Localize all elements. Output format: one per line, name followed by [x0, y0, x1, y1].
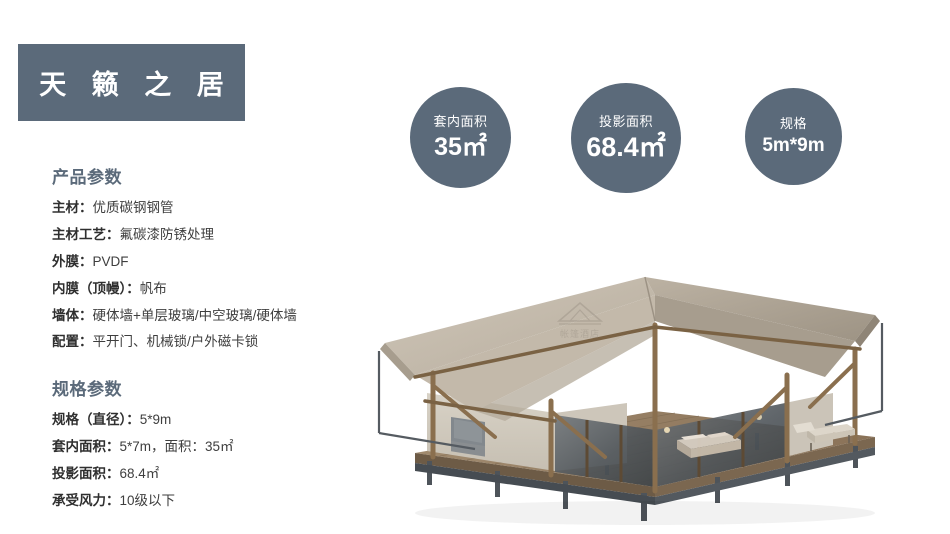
page-title: 天 籁 之 居 — [30, 63, 233, 102]
spec-value: 氟碳漆防锈处理 — [120, 227, 215, 242]
tent-house-illustration — [355, 225, 935, 525]
spec-panel: 产品参数 主材：优质碳钢钢管 主材工艺：氟碳漆防锈处理 外膜：PVDF 内膜（顶… — [52, 163, 382, 520]
badge-label: 投影面积 — [599, 115, 653, 129]
badge-projected-area: 投影面积 68.4㎡ — [571, 83, 681, 193]
spec-label: 主材： — [52, 200, 93, 215]
spec-row: 套内面积：5*7m，面积：35㎡ — [52, 439, 382, 456]
badge-value: 5m*9m — [762, 136, 824, 156]
spec-row: 外膜：PVDF — [52, 254, 382, 271]
section-heading-specification: 规格参数 — [52, 375, 382, 400]
badge-label: 规格 — [780, 117, 807, 131]
spec-row: 规格（直径）：5*9m — [52, 412, 382, 429]
spec-value: 68.4㎡ — [120, 466, 160, 481]
spec-label: 内膜（顶幔）： — [52, 281, 140, 296]
badge-value: 68.4㎡ — [586, 133, 666, 161]
spec-value: 5*9m — [140, 412, 172, 427]
spec-label: 投影面积： — [52, 466, 120, 481]
spec-value: 硬体墙+单层玻璃/中空玻璃/硬体墙 — [93, 308, 297, 323]
badge-interior-area: 套内面积 35㎡ — [410, 87, 511, 188]
section-heading-product: 产品参数 — [52, 163, 382, 188]
spec-label: 套内面积： — [52, 439, 120, 454]
spec-label: 配置： — [52, 334, 93, 349]
spec-label: 规格（直径）： — [52, 412, 140, 427]
spec-value: PVDF — [93, 254, 129, 269]
spec-row: 内膜（顶幔）：帆布 — [52, 281, 382, 298]
page-root: 天 籁 之 居 产品参数 主材：优质碳钢钢管 主材工艺：氟碳漆防锈处理 外膜：P… — [0, 0, 950, 534]
spec-label: 承受风力： — [52, 493, 120, 508]
spec-value: 10级以下 — [120, 493, 176, 508]
spec-value: 5*7m，面积：35㎡ — [120, 439, 234, 454]
spec-row: 墙体：硬体墙+单层玻璃/中空玻璃/硬体墙 — [52, 308, 382, 325]
spec-label: 主材工艺： — [52, 227, 120, 242]
spec-label: 外膜： — [52, 254, 93, 269]
spec-value: 帆布 — [140, 281, 167, 296]
badge-dimensions: 规格 5m*9m — [745, 88, 842, 185]
tent-house-svg — [355, 225, 935, 525]
title-block: 天 籁 之 居 — [18, 44, 245, 121]
spec-row: 主材：优质碳钢钢管 — [52, 200, 382, 217]
spec-row: 投影面积：68.4㎡ — [52, 466, 382, 483]
badge-value: 35㎡ — [434, 134, 487, 160]
spec-label: 墙体： — [52, 308, 93, 323]
spec-value: 优质碳钢钢管 — [93, 200, 174, 215]
spec-row: 主材工艺：氟碳漆防锈处理 — [52, 227, 382, 244]
badge-label: 套内面积 — [433, 115, 487, 129]
spec-row: 承受风力：10级以下 — [52, 493, 382, 510]
spec-row: 配置：平开门、机械锁/户外磁卡锁 — [52, 334, 382, 351]
spec-value: 平开门、机械锁/户外磁卡锁 — [93, 334, 259, 349]
